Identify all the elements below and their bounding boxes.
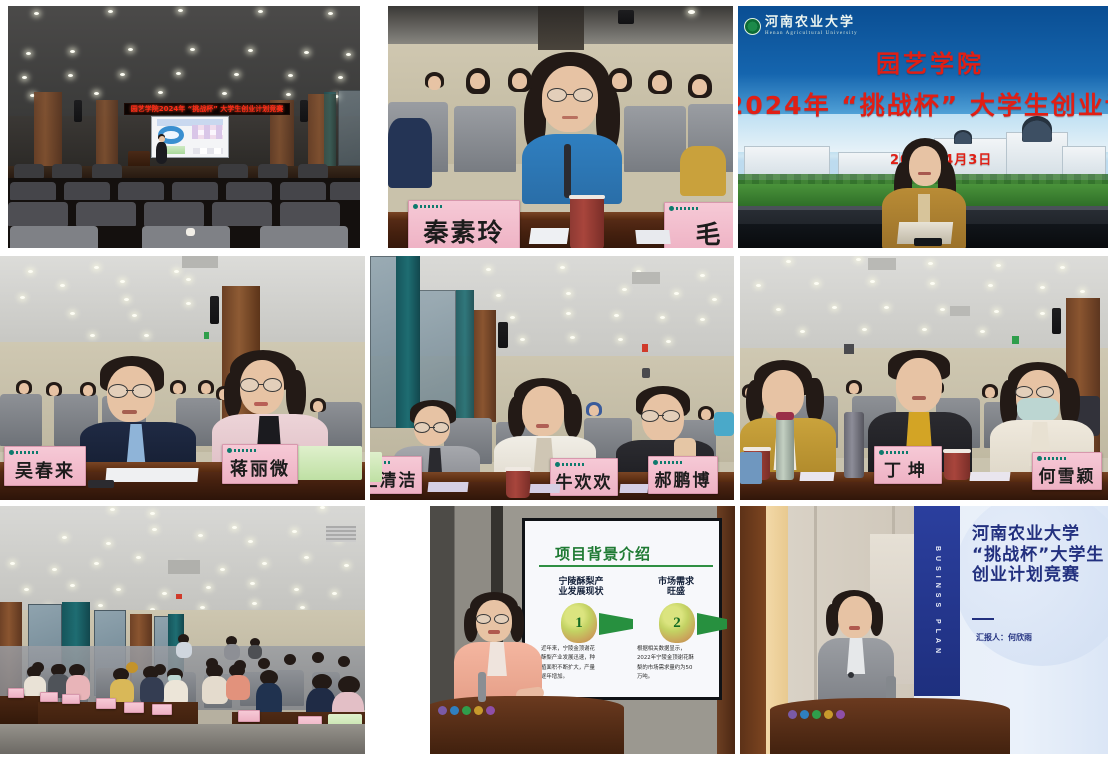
- glass-bottle: [776, 418, 794, 480]
- university-logo-icon: [555, 462, 585, 467]
- name-placard: [152, 704, 172, 715]
- university-name-cn: 河南农业大学: [765, 16, 858, 29]
- tissue-box: [296, 446, 362, 480]
- name-placard: 毛: [664, 202, 733, 248]
- paper-cup: [944, 452, 970, 480]
- placard-name: 吴春来: [15, 463, 75, 485]
- speaker-icon: [74, 100, 82, 122]
- slide-divider: [972, 618, 994, 620]
- business-plan-sidebar: BUSINSS PLAN: [914, 506, 960, 696]
- university-logo-icon: [413, 204, 443, 209]
- name-placard: [124, 702, 144, 713]
- placard-name: 郝鹏博: [655, 473, 712, 493]
- photo-5-three-judges[interactable]: 王清洁 牛欢欢 郝鹏博: [370, 256, 734, 500]
- photo-1-lecture-hall[interactable]: 园艺学院2024年 “挑战杯” 大学生创业计划竞赛: [8, 6, 360, 248]
- led-banner-text: 园艺学院2024年 “挑战杯” 大学生创业计划竞赛: [131, 104, 284, 114]
- placard-name: 秦素玲: [423, 220, 504, 248]
- name-placard: [96, 698, 116, 709]
- backdrop-line-1: 园艺学院: [876, 44, 984, 79]
- podium-badges: [438, 706, 495, 715]
- speaker-icon: [618, 10, 634, 24]
- placard-name: 牛欢欢: [556, 475, 613, 495]
- name-placard: [40, 692, 58, 702]
- placard-name: 丁坤: [884, 463, 932, 483]
- paper-cup: [570, 198, 604, 248]
- slide-item2-body: 根据相关数据显示， 2022年宁陵金顶谢花酥 梨的市场需求量约为50 万吨。: [637, 645, 721, 683]
- speaker-icon: [210, 296, 219, 324]
- pear-number-1: 1: [561, 603, 597, 643]
- placard-name: 何雪颖: [1039, 469, 1096, 489]
- photo-7-audience-wide[interactable]: [0, 506, 365, 754]
- placard-name: 蒋丽微: [230, 461, 290, 483]
- pear-number-2: 2: [659, 603, 695, 643]
- speaker-icon: [1052, 308, 1061, 334]
- slide-item1-body: 近年来，宁陵金顶谢花 酥梨产业发展迅速，种 植面积不断扩大，产量 逐年增加。: [541, 645, 625, 683]
- university-logo-icon: [1037, 456, 1067, 461]
- slide-heading: 河南农业大学 “挑战杯”大学生 创业计划竞赛: [972, 524, 1104, 586]
- backdrop-line-2: 2024年 “挑战杯” 大学生创业计划竞赛: [738, 86, 1108, 122]
- name-placard: [8, 688, 24, 698]
- name-placard: 何雪颖: [1032, 452, 1102, 490]
- paper-cup: [506, 470, 530, 498]
- pear-graphic-2: 2: [659, 603, 695, 643]
- university-logo-icon: [879, 450, 909, 455]
- university-logo-icon: [9, 450, 39, 455]
- pear-graphic-1: 1: [561, 603, 597, 643]
- slide-item1-heading: 宁陵酥梨产 业发展现状: [543, 577, 619, 598]
- photo-collage: 园艺学院2024年 “挑战杯” 大学生创业计划竞赛: [0, 0, 1108, 760]
- slide-title: 项目背景介绍: [555, 543, 651, 564]
- name-placard: 吴春来: [4, 446, 86, 486]
- university-logo-icon: [653, 460, 683, 465]
- university-name-en: Henan Agricultural University: [765, 31, 858, 36]
- photo-6-judges-right[interactable]: 丁坤 何雪颖: [740, 256, 1108, 500]
- name-placard: 丁坤: [874, 446, 942, 484]
- speaker-icon: [498, 322, 508, 348]
- presentation-screen: 项目背景介绍 宁陵酥梨产 业发展现状 市场需求 旺盛 1 2 近年来，宁陵金顶谢…: [522, 518, 722, 700]
- speaker-icon: [300, 100, 308, 122]
- placard-name: 毛: [695, 222, 722, 248]
- student-presenter: [818, 590, 894, 706]
- name-placard: 蒋丽微: [222, 444, 298, 484]
- business-plan-label: BUSINSS PLAN: [934, 546, 941, 658]
- name-placard: 牛欢欢: [550, 458, 618, 496]
- photo-9-business-plan-presentation[interactable]: BUSINSS PLAN 河南农业大学 “挑战杯”大学生 创业计划竞赛 汇报人：…: [740, 506, 1108, 754]
- tissue-box: [370, 452, 382, 482]
- podium: [770, 698, 1010, 754]
- photo-3-event-backdrop[interactable]: 河南农业大学 Henan Agricultural University 园艺学…: [738, 6, 1108, 248]
- thermos-bottle: [844, 412, 864, 478]
- name-placard: [238, 710, 260, 722]
- university-logo-icon: [669, 206, 699, 211]
- podium-badges: [788, 710, 845, 719]
- slide-item2-heading: 市场需求 旺盛: [641, 577, 711, 598]
- university-logo-icon: [227, 448, 257, 453]
- led-banner: 园艺学院2024年 “挑战杯” 大学生创业计划竞赛: [124, 103, 290, 115]
- slide-presenter: 汇报人：何欣雨: [976, 632, 1032, 643]
- slide-lower-right-figure: [193, 148, 223, 154]
- photo-4-two-judges[interactable]: 吴春来 蒋丽微: [0, 256, 365, 500]
- arrow-icon: [599, 613, 633, 635]
- name-placard: 郝鹏博: [648, 456, 718, 494]
- name-placard: 秦素玲: [408, 200, 520, 248]
- photo-8-project-background-slide[interactable]: 项目背景介绍 宁陵酥梨产 业发展现状 市场需求 旺盛 1 2 近年来，宁陵金顶谢…: [430, 506, 735, 754]
- university-logo: 河南农业大学 Henan Agricultural University: [744, 16, 858, 36]
- podium: [430, 696, 624, 754]
- photo-2-judge-portrait[interactable]: 秦素玲 毛: [388, 6, 733, 248]
- slide-image-grid: [192, 125, 224, 139]
- presenter: [154, 134, 168, 164]
- name-placard: [62, 694, 80, 704]
- judge-portrait: [516, 52, 628, 202]
- university-emblem-icon: [744, 18, 761, 35]
